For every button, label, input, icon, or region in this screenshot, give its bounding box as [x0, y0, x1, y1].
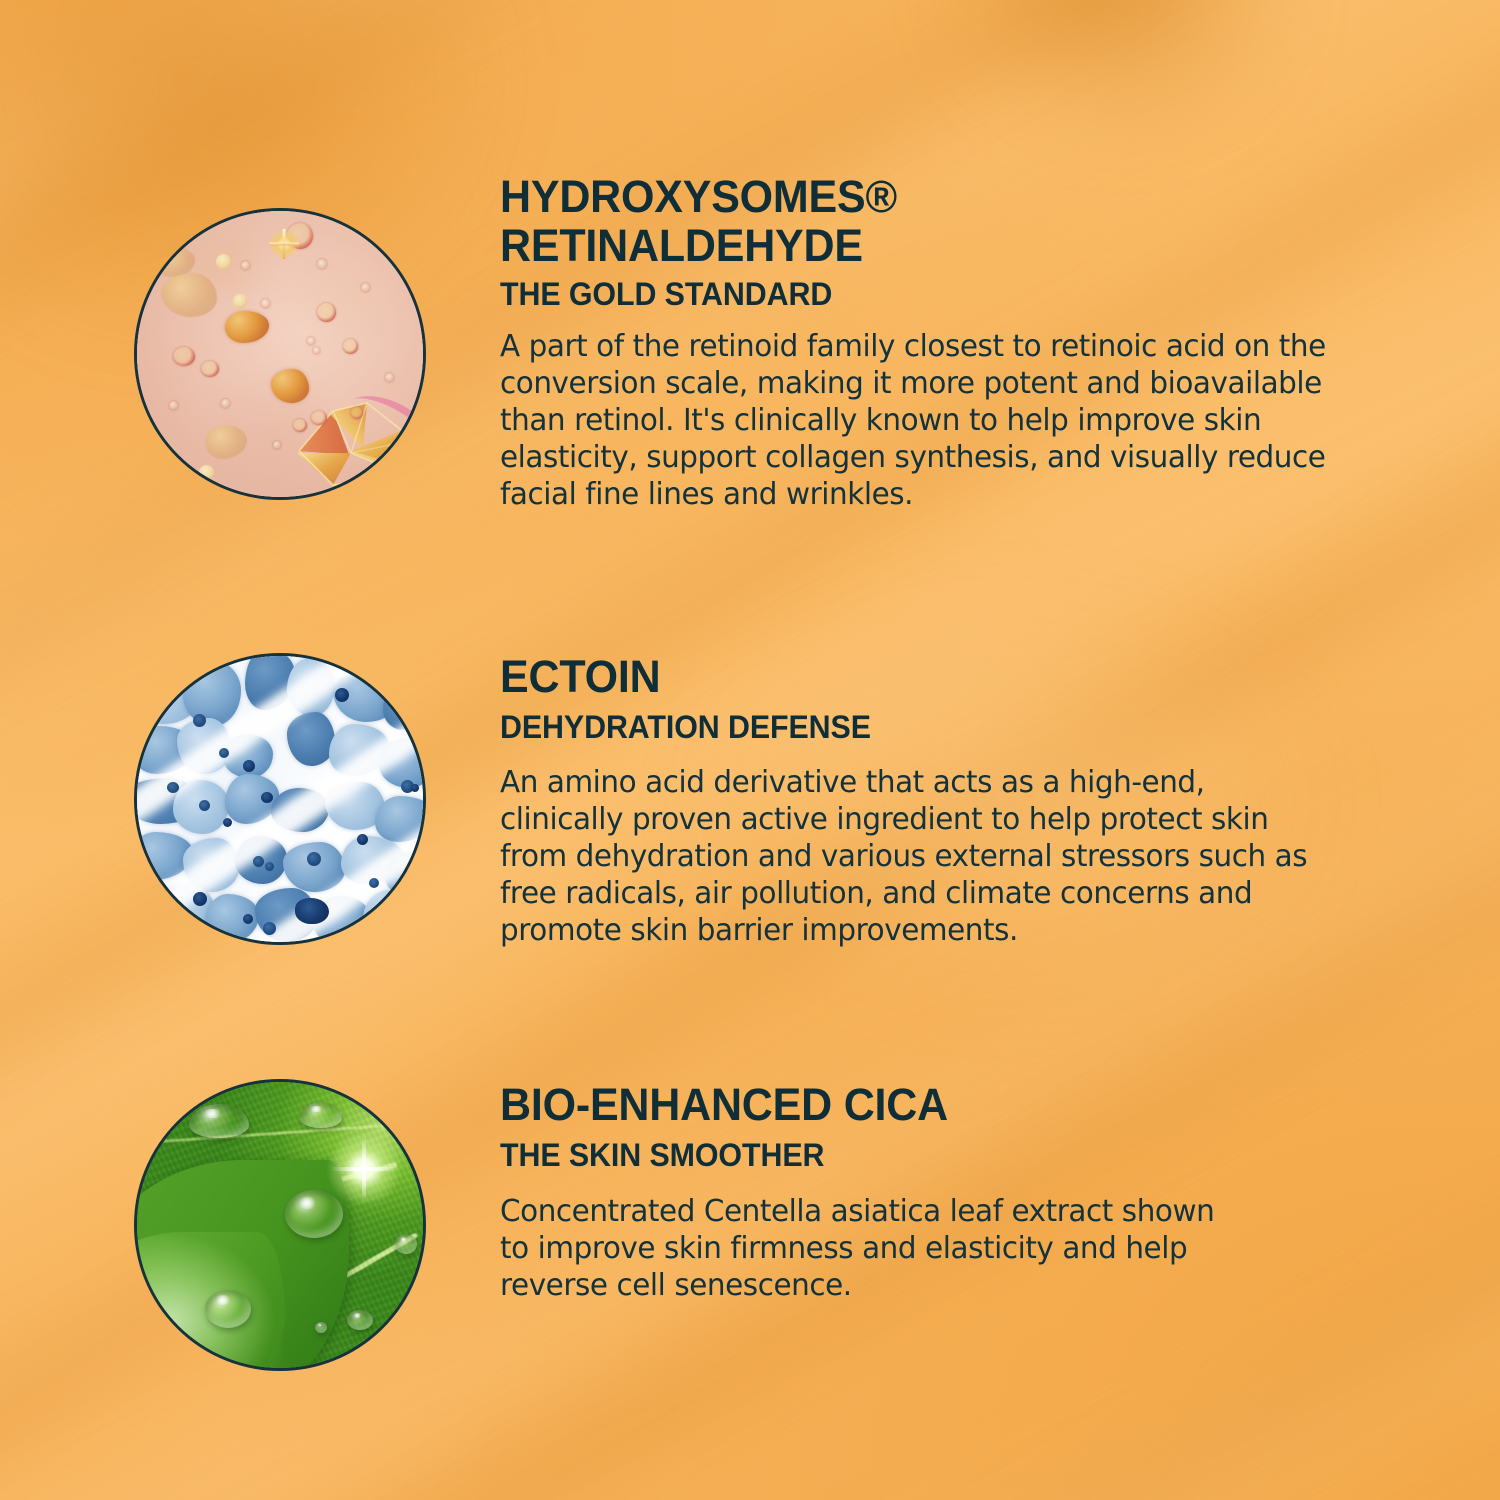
cell-nucleus: [167, 782, 179, 793]
section-text-column: BIO-ENHANCED CICA THE SKIN SMOOTHER Conc…: [500, 1080, 1500, 1304]
granule: [311, 411, 327, 425]
cell-nucleus: [369, 878, 379, 888]
ingredient-section: HYDROXYSOMES® RETINALDEHYDE THE GOLD STA…: [0, 172, 1500, 513]
cell-nucleus: [335, 688, 349, 702]
cell-nucleus: [265, 862, 274, 871]
cell-nucleus: [411, 784, 419, 792]
ingredient-title: ECTOIN: [500, 652, 1321, 701]
water-droplet: [347, 1310, 373, 1330]
granule: [313, 347, 320, 354]
granule: [233, 294, 247, 308]
ingredient-body: An amino acid derivative that acts as a …: [500, 764, 1330, 949]
water-droplet: [205, 1290, 251, 1328]
histology-channels: [134, 653, 426, 945]
cell-nucleus: [199, 800, 210, 811]
granule: [221, 399, 230, 408]
micrograph-pink-crystals-image: [134, 208, 426, 500]
cell-nucleus: [243, 760, 255, 772]
cell-nucleus: [193, 714, 206, 727]
granule: [385, 373, 394, 382]
cell-nucleus: [307, 852, 321, 866]
granule: [317, 259, 327, 269]
granule: [201, 361, 219, 377]
infographic-canvas: HYDROXYSOMES® RETINALDEHYDE THE GOLD STA…: [0, 0, 1500, 1500]
granule: [317, 303, 336, 322]
ingredient-body: A part of the retinoid family closest to…: [500, 328, 1351, 513]
micrograph-blue-tissue-image: [134, 653, 426, 945]
granule: [199, 465, 214, 480]
section-media-column: [0, 652, 500, 945]
cell-nucleus: [223, 818, 232, 827]
granule: [361, 283, 370, 292]
ingredient-subtitle: THE SKIN SMOOTHER: [500, 1137, 1213, 1173]
ingredient-subtitle: THE GOLD STANDARD: [500, 276, 1338, 312]
granule: [173, 347, 195, 366]
ingredient-section: BIO-ENHANCED CICA THE SKIN SMOOTHER Conc…: [0, 1080, 1500, 1371]
sun-flare-icon: [327, 1132, 401, 1206]
granule: [169, 401, 178, 410]
ingredient-sections: HYDROXYSOMES® RETINALDEHYDE THE GOLD STA…: [0, 0, 1500, 1500]
granule: [241, 261, 250, 270]
granule: [216, 254, 231, 269]
cell-nucleus: [253, 856, 264, 867]
section-media-column: [0, 1080, 500, 1371]
section-media-column: [0, 172, 500, 500]
cell-nucleus: [263, 922, 276, 935]
granule: [343, 339, 358, 354]
granule: [351, 407, 363, 419]
cell-nucleus: [357, 834, 368, 845]
section-text-column: HYDROXYSOMES® RETINALDEHYDE THE GOLD STA…: [500, 172, 1500, 513]
ingredient-subtitle: DEHYDRATION DEFENSE: [500, 709, 1317, 745]
ingredient-body: Concentrated Centella asiatica leaf extr…: [500, 1193, 1224, 1304]
water-droplet: [315, 1322, 327, 1333]
water-droplet: [285, 1190, 343, 1238]
ingredient-title: BIO-ENHANCED CICA: [500, 1080, 1216, 1129]
cell-nucleus: [261, 792, 273, 803]
water-droplet: [395, 1234, 417, 1254]
ingredient-title: HYDROXYSOMES® RETINALDEHYDE: [500, 172, 1342, 270]
cell-nucleus: [243, 914, 253, 924]
cell-nucleus: [193, 892, 207, 906]
granule: [273, 441, 281, 449]
section-text-column: ECTOIN DEHYDRATION DEFENSE An amino acid…: [500, 652, 1500, 949]
cell-nucleus: [219, 748, 229, 758]
ingredient-section: ECTOIN DEHYDRATION DEFENSE An amino acid…: [0, 652, 1500, 949]
water-droplet: [300, 1102, 342, 1128]
cell-nucleus: [295, 898, 329, 924]
granule: [261, 299, 270, 308]
green-leaf-waterdrops-image: [134, 1079, 426, 1371]
water-droplet: [189, 1104, 249, 1138]
granule: [307, 337, 315, 345]
crystal-sparkle-icon: [269, 229, 299, 259]
